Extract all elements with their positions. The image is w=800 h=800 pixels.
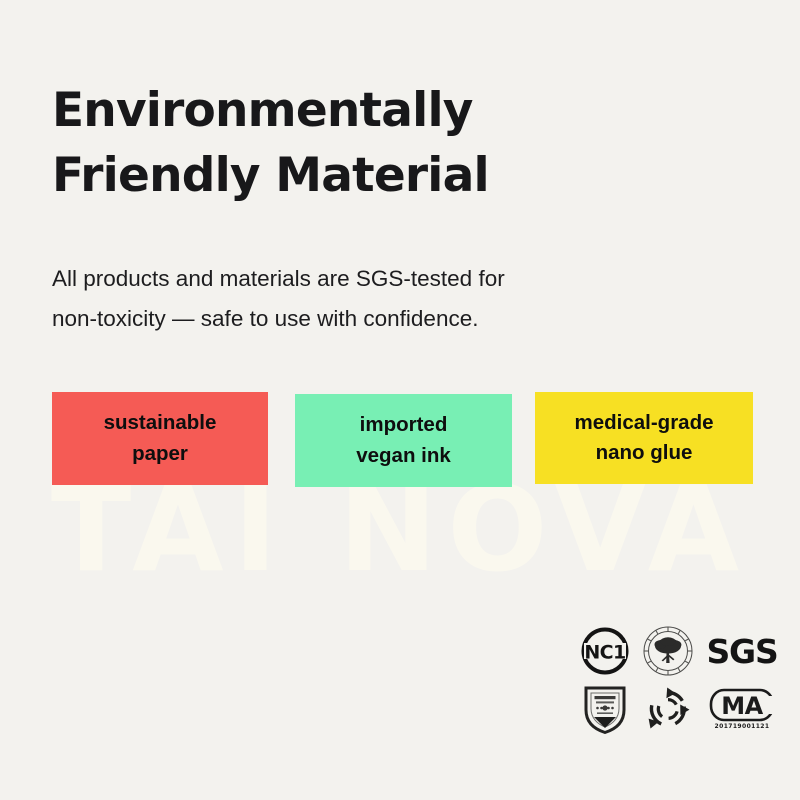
material-badge-line-2: vegan ink — [356, 441, 451, 471]
material-badge-line-1: medical-grade — [575, 408, 714, 438]
cma-icon: MA 201719001121 — [700, 680, 780, 738]
page-title: Environmentally Friendly Material — [52, 79, 692, 209]
recycle-icon — [636, 680, 700, 738]
brand-watermark: TAI NOVA — [0, 470, 800, 588]
page-subtitle-line-1: All products and materials are SGS-teste… — [52, 259, 672, 299]
material-badge-medical-grade-nano-glue: medical-grade nano glue — [535, 392, 753, 484]
nc1-icon: NC1 — [574, 622, 636, 680]
material-badge-sustainable-paper: sustainable paper — [52, 392, 268, 485]
page-title-line-2: Friendly Material — [52, 144, 692, 209]
material-badge-line-1: imported — [360, 410, 448, 440]
certification-logo-grid: NC1 — [574, 622, 780, 738]
page-title-line-1: Environmentally — [52, 79, 692, 144]
material-badge-group: sustainable paper imported vegan ink med… — [52, 392, 753, 487]
cma-certificate-number: 201719001121 — [715, 723, 770, 730]
page-subtitle: All products and materials are SGS-teste… — [52, 259, 672, 339]
material-badge-line-2: nano glue — [596, 438, 693, 468]
material-badge-imported-vegan-ink: imported vegan ink — [295, 394, 512, 487]
svg-text:MA: MA — [721, 692, 763, 720]
page-subtitle-line-2: non-toxicity — safe to use with confiden… — [52, 299, 672, 339]
material-badge-line-1: sustainable — [104, 408, 217, 438]
svg-text:NC1: NC1 — [584, 642, 625, 664]
shield-icon — [574, 680, 636, 738]
tree-seal-icon — [636, 622, 700, 680]
poster-canvas: TAI NOVA Environmentally Friendly Materi… — [0, 0, 800, 800]
sgs-label: SGS — [706, 635, 777, 668]
sgs-icon: SGS — [700, 622, 780, 680]
material-badge-line-2: paper — [132, 439, 188, 469]
